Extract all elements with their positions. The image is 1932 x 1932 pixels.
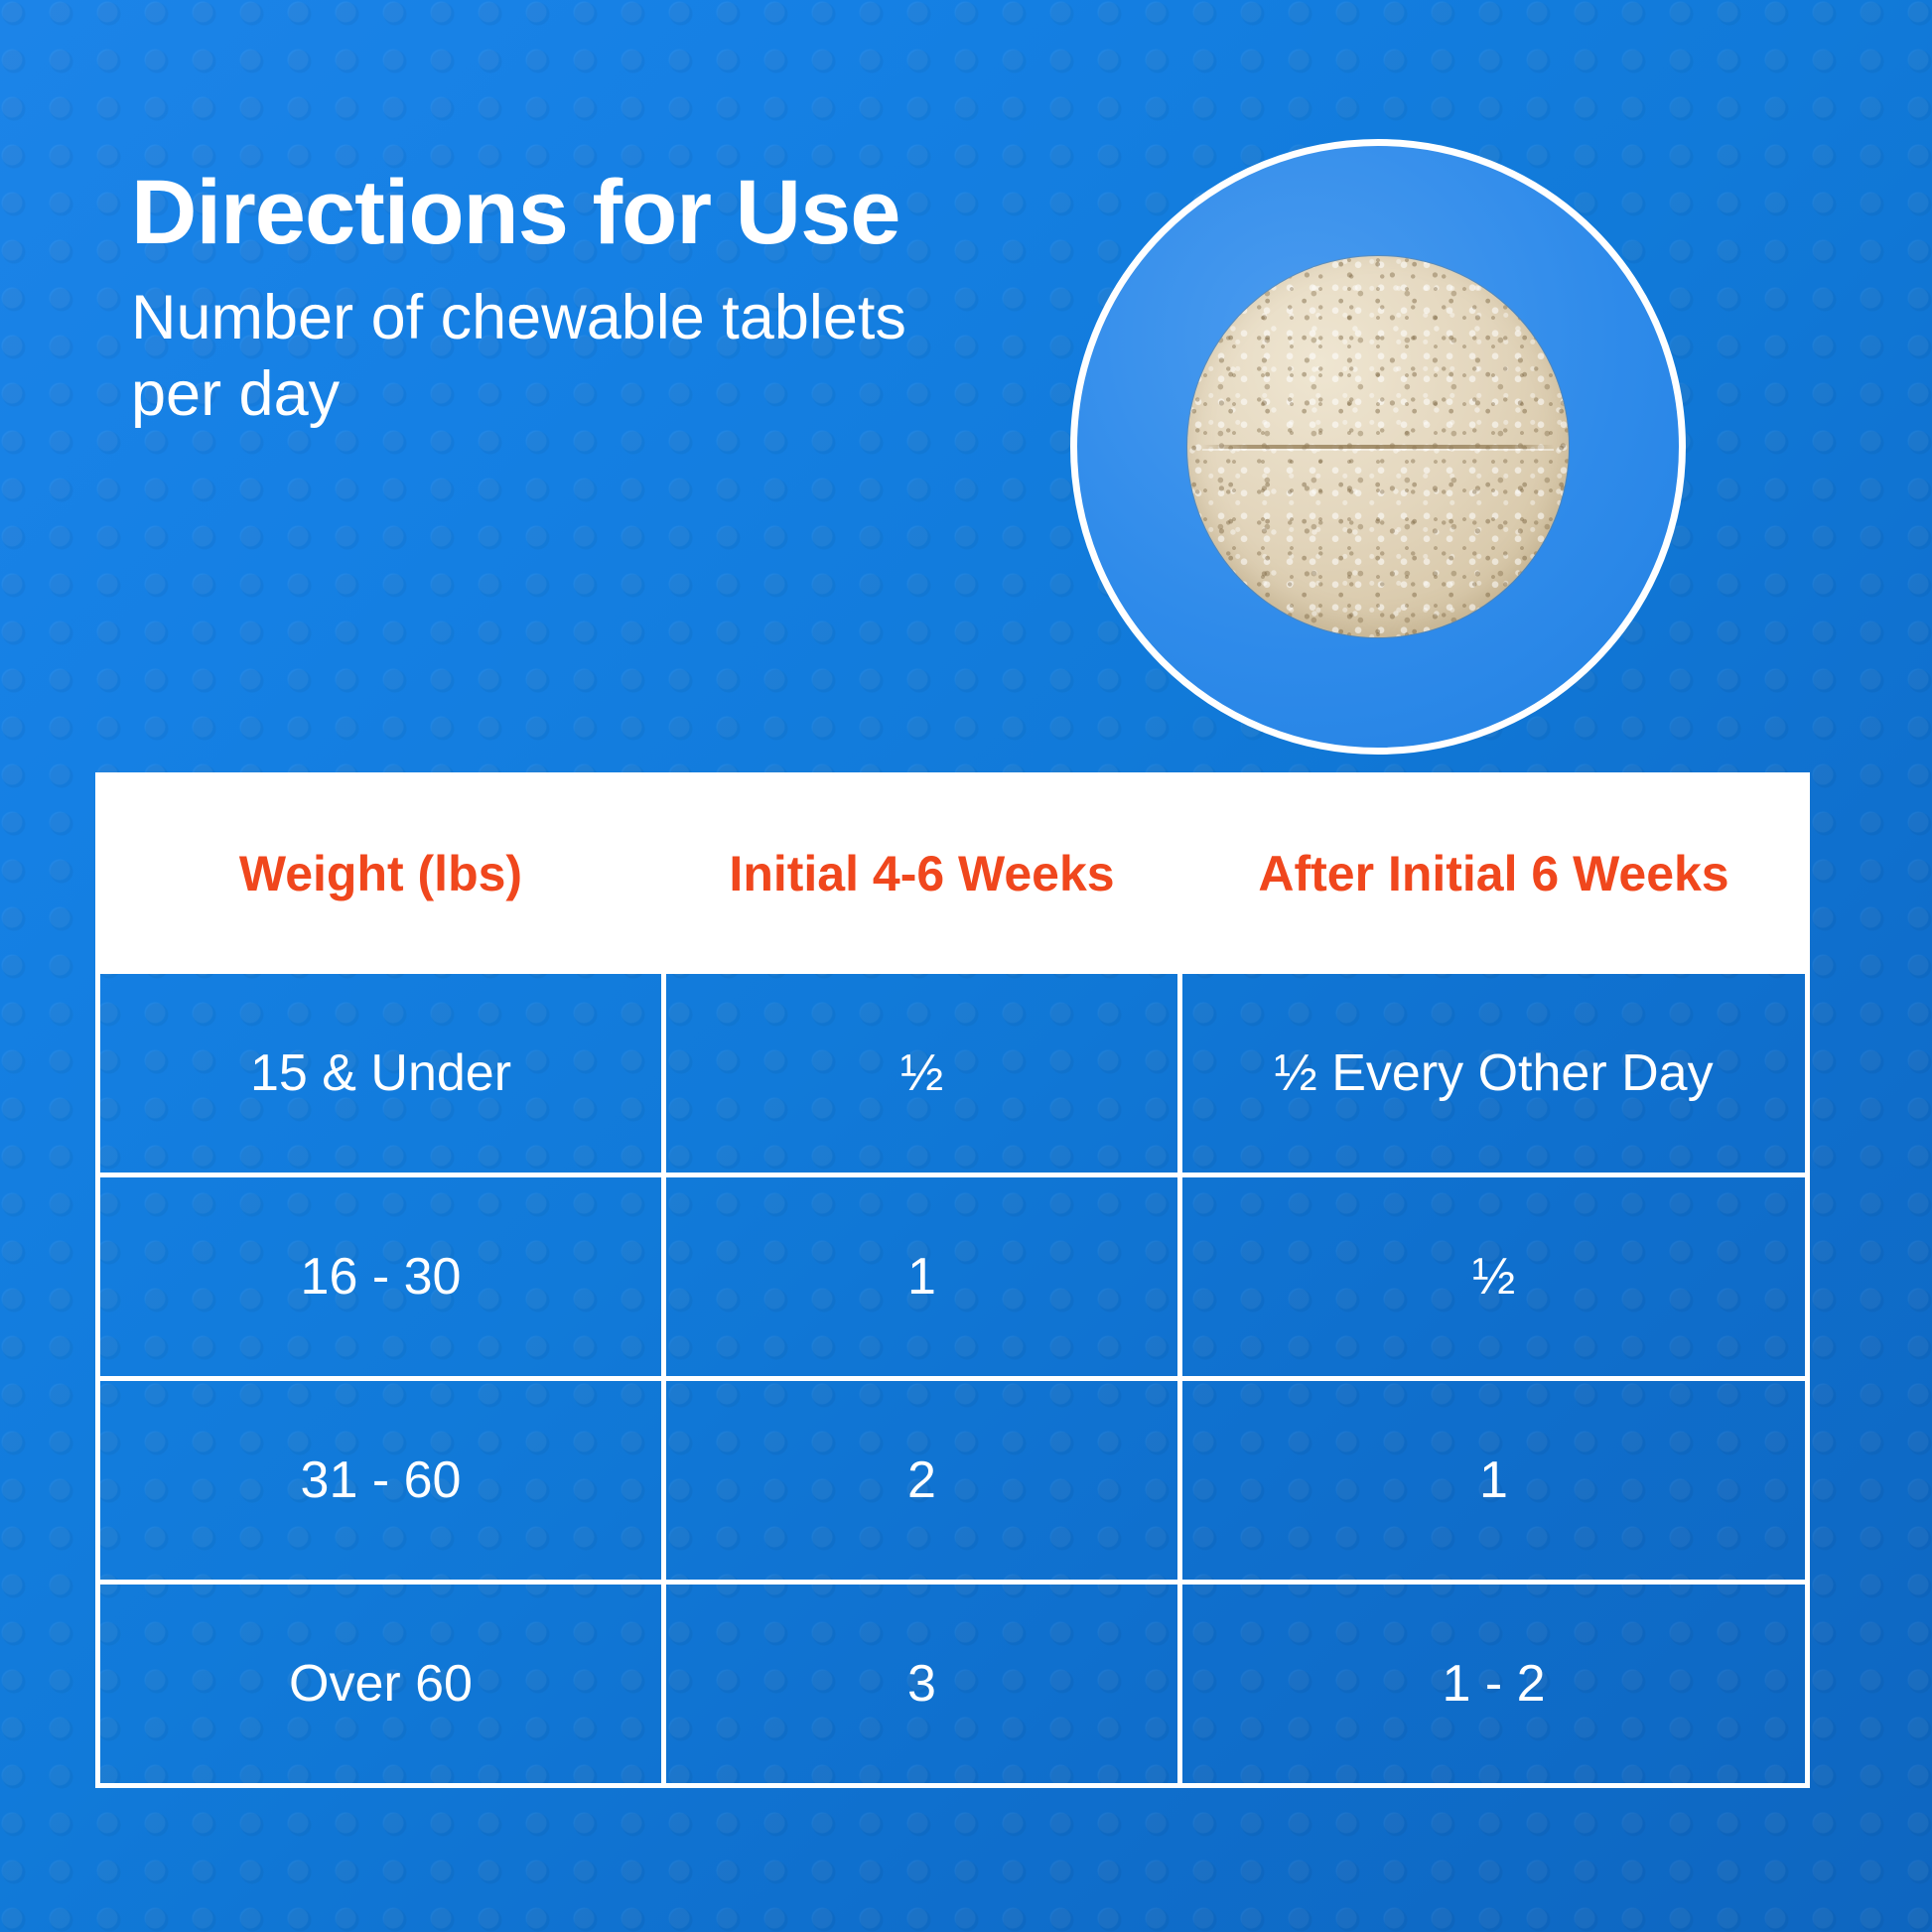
table-row: 16 - 30 1 ½ [98, 1175, 1808, 1379]
cell-weight: 15 & Under [98, 972, 664, 1175]
dosing-table: Weight (lbs) Initial 4-6 Weeks After Ini… [95, 772, 1810, 1788]
infographic-canvas: Directions for Use Number of chewable ta… [0, 0, 1932, 1932]
cell-maintenance-dose: ½ Every Other Day [1180, 972, 1808, 1175]
cell-maintenance-dose: 1 [1180, 1379, 1808, 1583]
page-subtitle: Number of chewable tablets per day [131, 280, 1005, 433]
cell-weight: 31 - 60 [98, 1379, 664, 1583]
table-row: 15 & Under ½ ½ Every Other Day [98, 972, 1808, 1175]
cell-maintenance-dose: 1 - 2 [1180, 1583, 1808, 1786]
column-header-weight: Weight (lbs) [98, 775, 664, 972]
tablet-photo [1187, 256, 1569, 637]
cell-weight: Over 60 [98, 1583, 664, 1786]
column-header-after-initial: After Initial 6 Weeks [1180, 775, 1808, 972]
tablet-photo-circle [1070, 139, 1686, 755]
table-header-row: Weight (lbs) Initial 4-6 Weeks After Ini… [98, 775, 1808, 972]
tablet-score-line [1202, 445, 1553, 449]
page-title: Directions for Use [131, 167, 1104, 258]
cell-initial-dose: 1 [664, 1175, 1180, 1379]
cell-weight: 16 - 30 [98, 1175, 664, 1379]
cell-initial-dose: 3 [664, 1583, 1180, 1786]
table-row: Over 60 3 1 - 2 [98, 1583, 1808, 1786]
column-header-initial-weeks: Initial 4-6 Weeks [664, 775, 1180, 972]
headline-block: Directions for Use Number of chewable ta… [131, 167, 1104, 433]
table-row: 31 - 60 2 1 [98, 1379, 1808, 1583]
cell-maintenance-dose: ½ [1180, 1175, 1808, 1379]
cell-initial-dose: 2 [664, 1379, 1180, 1583]
cell-initial-dose: ½ [664, 972, 1180, 1175]
